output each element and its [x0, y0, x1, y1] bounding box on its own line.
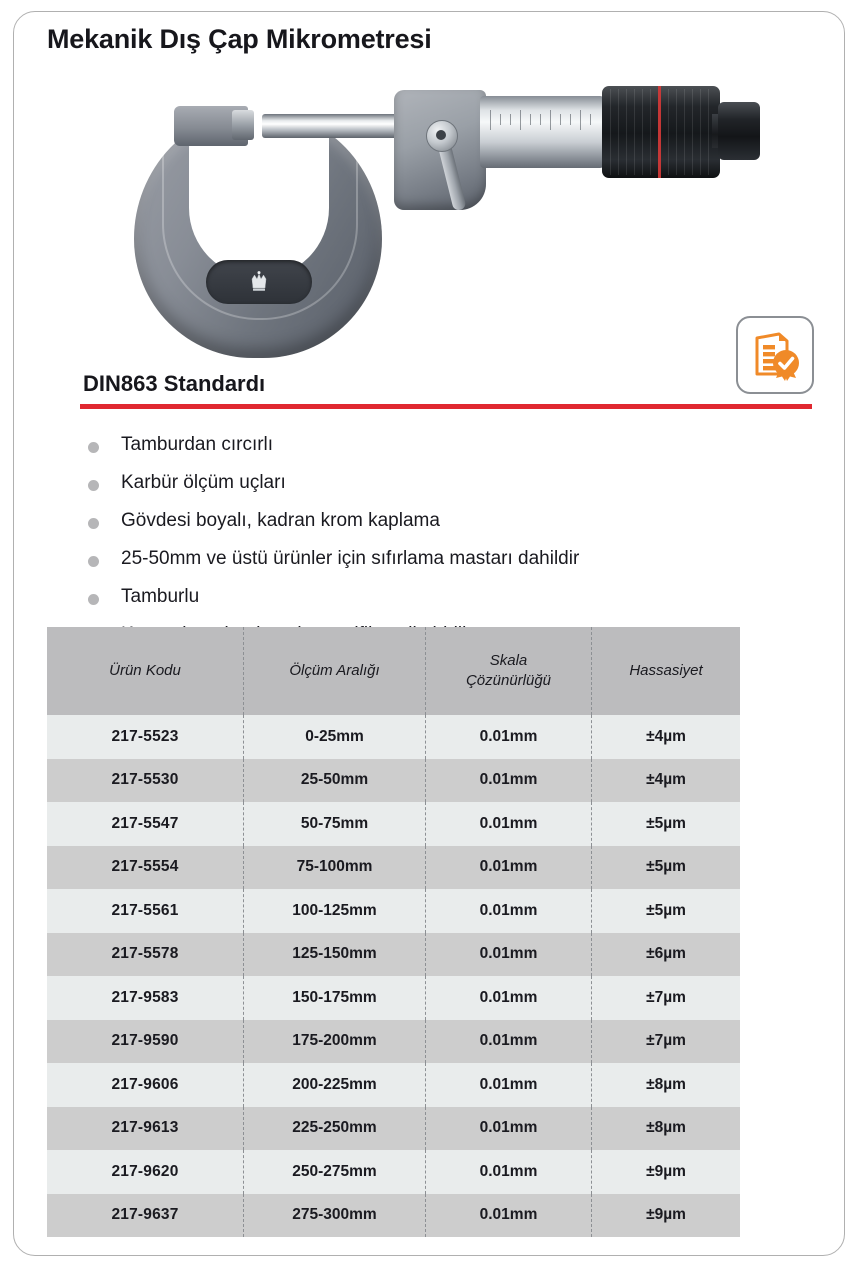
cell-accuracy: ±4µm [592, 715, 741, 759]
table-row: 217-5578 125-150mm 0.01mm ±6µm [47, 933, 740, 977]
crown-logo-icon [249, 270, 269, 294]
cell-product-code: 217-9620 [47, 1150, 244, 1194]
cell-resolution: 0.01mm [426, 1063, 592, 1107]
table-row: 217-5554 75-100mm 0.01mm ±5µm [47, 846, 740, 890]
cell-accuracy: ±6µm [592, 933, 741, 977]
cell-measuring-range: 150-175mm [244, 976, 426, 1020]
cell-resolution: 0.01mm [426, 846, 592, 890]
table-row: 217-5523 0-25mm 0.01mm ±4µm [47, 715, 740, 759]
cell-product-code: 217-9590 [47, 1020, 244, 1064]
column-header-accuracy: Hassasiyet [592, 627, 741, 715]
list-item: 25-50mm ve üstü ürünler için sıfırlama m… [88, 548, 788, 574]
bullet-dot-icon [88, 480, 99, 491]
table-row: 217-9583 150-175mm 0.01mm ±7µm [47, 976, 740, 1020]
micrometer-spindle [262, 114, 404, 138]
feature-label: Karbür ölçüm uçları [121, 472, 286, 494]
feature-label: Tamburlu [121, 586, 199, 608]
table-header-row: Ürün Kodu Ölçüm Aralığı Skala Çözünürlüğ… [47, 627, 740, 715]
cell-measuring-range: 275-300mm [244, 1194, 426, 1238]
header-line-2: Çözünürlüğü [466, 672, 551, 689]
certificate-badge [736, 316, 814, 394]
list-item: Karbür ölçüm uçları [88, 472, 788, 498]
page-title: Mekanik Dış Çap Mikrometresi [47, 24, 432, 55]
table-row: 217-9637 275-300mm 0.01mm ±9µm [47, 1194, 740, 1238]
table-row: 217-9590 175-200mm 0.01mm ±7µm [47, 1020, 740, 1064]
frame-brand-pad [206, 260, 312, 304]
micrometer-ratchet-stop [718, 102, 760, 160]
cell-accuracy: ±5µm [592, 802, 741, 846]
cell-accuracy: ±8µm [592, 1063, 741, 1107]
table-row: 217-9613 225-250mm 0.01mm ±8µm [47, 1107, 740, 1151]
micrometer-thimble [602, 86, 720, 178]
cell-product-code: 217-9637 [47, 1194, 244, 1238]
cell-accuracy: ±9µm [592, 1150, 741, 1194]
cell-product-code: 217-5530 [47, 759, 244, 803]
cell-product-code: 217-5547 [47, 802, 244, 846]
cell-resolution: 0.01mm [426, 889, 592, 933]
cell-resolution: 0.01mm [426, 976, 592, 1020]
feature-label: Tamburdan cırcırlı [121, 434, 273, 456]
red-divider-rule [80, 404, 812, 409]
table-body: 217-5523 0-25mm 0.01mm ±4µm 217-5530 25-… [47, 715, 740, 1237]
micrometer-measuring-face [232, 110, 254, 140]
cell-measuring-range: 175-200mm [244, 1020, 426, 1064]
product-image-micrometer [120, 62, 750, 362]
cell-resolution: 0.01mm [426, 1107, 592, 1151]
cell-measuring-range: 25-50mm [244, 759, 426, 803]
header-line-1: Skala [490, 652, 528, 669]
cell-measuring-range: 200-225mm [244, 1063, 426, 1107]
cell-measuring-range: 125-150mm [244, 933, 426, 977]
column-header-scale-resolution: Skala Çözünürlüğü [426, 627, 592, 715]
bullet-dot-icon [88, 594, 99, 605]
cell-resolution: 0.01mm [426, 1194, 592, 1238]
cell-measuring-range: 100-125mm [244, 889, 426, 933]
bullet-dot-icon [88, 556, 99, 567]
table-row: 217-9620 250-275mm 0.01mm ±9µm [47, 1150, 740, 1194]
cell-measuring-range: 0-25mm [244, 715, 426, 759]
cell-accuracy: ±7µm [592, 1020, 741, 1064]
certificate-document-icon [749, 329, 801, 381]
bullet-dot-icon [88, 518, 99, 529]
cell-measuring-range: 50-75mm [244, 802, 426, 846]
specification-table: Ürün Kodu Ölçüm Aralığı Skala Çözünürlüğ… [47, 627, 740, 1237]
bullet-dot-icon [88, 442, 99, 453]
table-row: 217-5547 50-75mm 0.01mm ±5µm [47, 802, 740, 846]
cell-resolution: 0.01mm [426, 1020, 592, 1064]
list-item: Tamburdan cırcırlı [88, 434, 788, 460]
cell-accuracy: ±7µm [592, 976, 741, 1020]
table-row: 217-9606 200-225mm 0.01mm ±8µm [47, 1063, 740, 1107]
micrometer-graduated-sleeve [480, 96, 604, 168]
micrometer-lock-screw [426, 120, 458, 152]
cell-resolution: 0.01mm [426, 759, 592, 803]
cell-product-code: 217-5561 [47, 889, 244, 933]
list-item: Gövdesi boyalı, kadran krom kaplama [88, 510, 788, 536]
cell-accuracy: ±8µm [592, 1107, 741, 1151]
cell-measuring-range: 250-275mm [244, 1150, 426, 1194]
table-row: 217-5561 100-125mm 0.01mm ±5µm [47, 889, 740, 933]
table-row: 217-5530 25-50mm 0.01mm ±4µm [47, 759, 740, 803]
column-header-measuring-range: Ölçüm Aralığı [244, 627, 426, 715]
cell-product-code: 217-5523 [47, 715, 244, 759]
standard-heading: DIN863 Standardı [83, 371, 265, 397]
cell-product-code: 217-9613 [47, 1107, 244, 1151]
thimble-reference-line [658, 86, 661, 178]
cell-resolution: 0.01mm [426, 715, 592, 759]
cell-accuracy: ±5µm [592, 846, 741, 890]
cell-accuracy: ±5µm [592, 889, 741, 933]
cell-resolution: 0.01mm [426, 802, 592, 846]
cell-product-code: 217-5554 [47, 846, 244, 890]
feature-label: Gövdesi boyalı, kadran krom kaplama [121, 510, 440, 532]
micrometer-c-frame [134, 110, 382, 358]
list-item: Tamburlu [88, 586, 788, 612]
cell-product-code: 217-9606 [47, 1063, 244, 1107]
feature-label: 25-50mm ve üstü ürünler için sıfırlama m… [121, 548, 579, 570]
cell-product-code: 217-5578 [47, 933, 244, 977]
cell-resolution: 0.01mm [426, 1150, 592, 1194]
cell-accuracy: ±4µm [592, 759, 741, 803]
cell-product-code: 217-9583 [47, 976, 244, 1020]
cell-accuracy: ±9µm [592, 1194, 741, 1238]
cell-resolution: 0.01mm [426, 933, 592, 977]
cell-measuring-range: 225-250mm [244, 1107, 426, 1151]
column-header-product-code: Ürün Kodu [47, 627, 244, 715]
cell-measuring-range: 75-100mm [244, 846, 426, 890]
